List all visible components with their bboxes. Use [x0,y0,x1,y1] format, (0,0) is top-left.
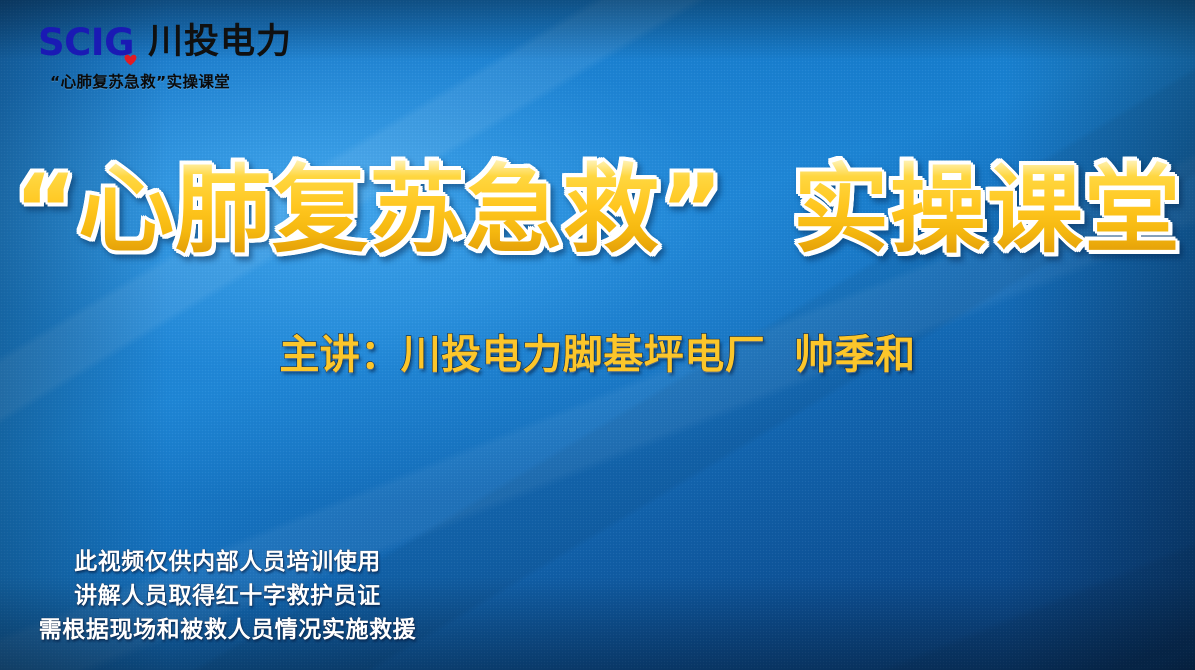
note-line-2: 讲解人员取得红十字救护员证 [0,579,455,613]
logo-wordmark: SCIG [38,24,134,61]
note-line-1: 此视频仅供内部人员培训使用 [0,545,455,579]
disclaimer-notes: 此视频仅供内部人员培训使用 讲解人员取得红十字救护员证 需根据现场和被救人员情况… [0,545,455,647]
logo-wordmark-text-wrap: SCIG [38,24,134,61]
presenter-container: 主讲：川投电力脚基坪电厂 帅季和 [0,322,1195,380]
logo-row: SCIG 川投电力 [38,20,292,64]
logo-company-name: 川投电力 [148,25,292,60]
logo-sub-caption: “心肺复苏急救”实操课堂 [50,70,292,92]
logo-wordmark-text: SCIG [38,21,134,64]
heart-icon [124,35,137,47]
page-title: “心肺复苏急救” 实操课堂 [14,160,1181,262]
title-container: “心肺复苏急救” 实操课堂 [0,160,1195,262]
presenter-line: 主讲：川投电力脚基坪电厂 帅季和 [279,322,915,380]
presentation-slide: SCIG 川投电力 “心肺复苏急救”实操课堂 “心肺复苏急救” 实操课堂 主讲：… [0,0,1195,670]
corporate-logo-block: SCIG 川投电力 “心肺复苏急救”实操课堂 [38,20,292,92]
note-line-3: 需根据现场和被救人员情况实施救援 [0,613,455,647]
